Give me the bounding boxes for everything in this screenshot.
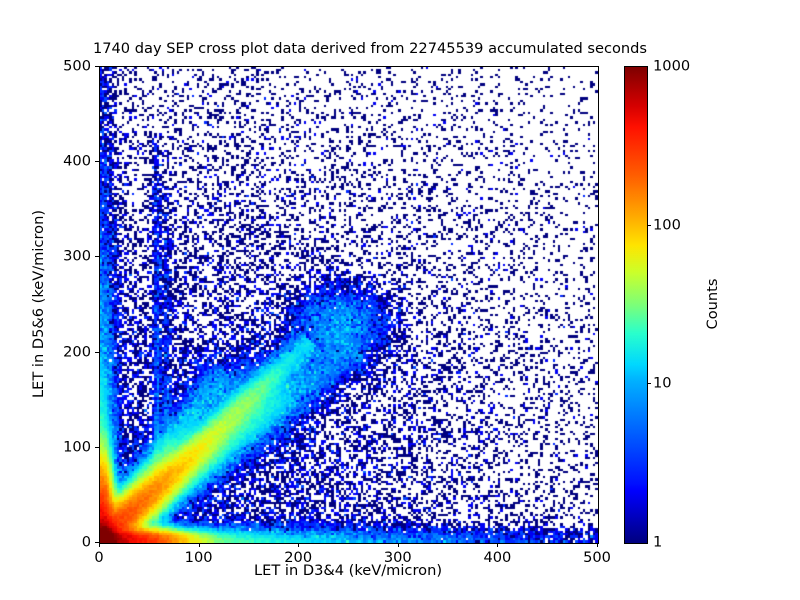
- y-tick-0: [95, 542, 99, 543]
- y-axis-label: LET in D5&6 (keV/micron): [30, 210, 47, 398]
- y-ticklabel-200: 200: [47, 343, 91, 360]
- y-tick-400: [95, 161, 99, 162]
- colorbar-tick-100: [647, 225, 651, 226]
- x-tick-200: [298, 543, 299, 547]
- x-axis-label: LET in D3&4 (keV/micron): [99, 562, 597, 579]
- x-tick-0: [99, 543, 100, 547]
- y-ticklabel-0: 0: [47, 534, 91, 551]
- y-tick-500: [95, 66, 99, 67]
- colorbar-label: Counts: [704, 279, 721, 330]
- colorbar-ticklabel-10: 10: [653, 375, 672, 392]
- colorbar-tick-10: [647, 383, 651, 384]
- x-tick-500: [597, 543, 598, 547]
- title-line-1: 1740 day SEP cross plot data derived fro…: [0, 40, 740, 57]
- colorbar: [624, 66, 648, 544]
- density-heatmap: [100, 67, 598, 543]
- x-tick-100: [199, 543, 200, 547]
- y-ticklabel-500: 500: [47, 58, 91, 75]
- figure-canvas: 1740 day SEP cross plot data derived fro…: [0, 0, 800, 600]
- colorbar-ticklabel-1000: 1000: [653, 58, 690, 75]
- x-tick-300: [398, 543, 399, 547]
- colorbar-gradient: [625, 67, 647, 543]
- y-ticklabel-100: 100: [47, 438, 91, 455]
- y-ticklabel-400: 400: [47, 153, 91, 170]
- y-tick-200: [95, 352, 99, 353]
- colorbar-ticklabel-100: 100: [653, 216, 681, 233]
- plot-area: [99, 66, 599, 544]
- y-ticklabel-300: 300: [47, 248, 91, 265]
- y-tick-100: [95, 447, 99, 448]
- x-tick-400: [497, 543, 498, 547]
- y-tick-300: [95, 256, 99, 257]
- colorbar-ticklabel-1: 1: [653, 534, 662, 551]
